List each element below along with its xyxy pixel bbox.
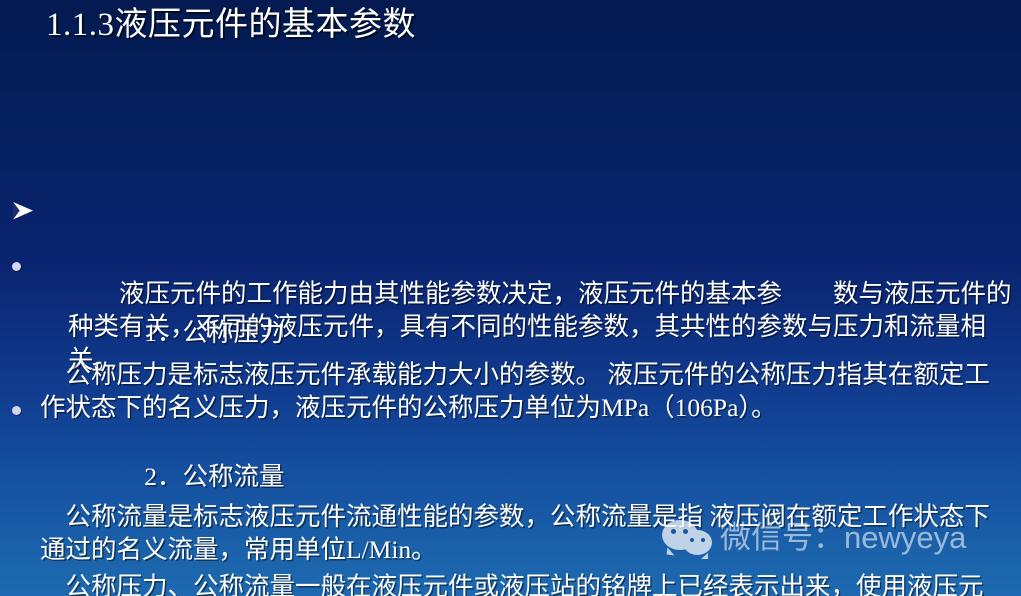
final-paragraph: 公称压力、公称流量一般在液压元件或液压站的铭牌上已经表示出来，使用液压元件时，工… xyxy=(0,504,1021,596)
page-title: 1.1.3液压元件的基本参数 xyxy=(46,3,416,47)
final-body-text: 公称压力、公称流量一般在液压元件或液压站的铭牌上已经表示出来，使用液压元件时，工… xyxy=(40,570,1005,596)
slide-canvas: 1.1.3液压元件的基本参数 液压元件的工作能力由其性能参数决定，液压元件的基本… xyxy=(0,0,1021,596)
round-bullet-icon xyxy=(12,262,21,271)
round-bullet-icon xyxy=(12,406,21,415)
arrow-bullet-icon xyxy=(10,146,36,172)
